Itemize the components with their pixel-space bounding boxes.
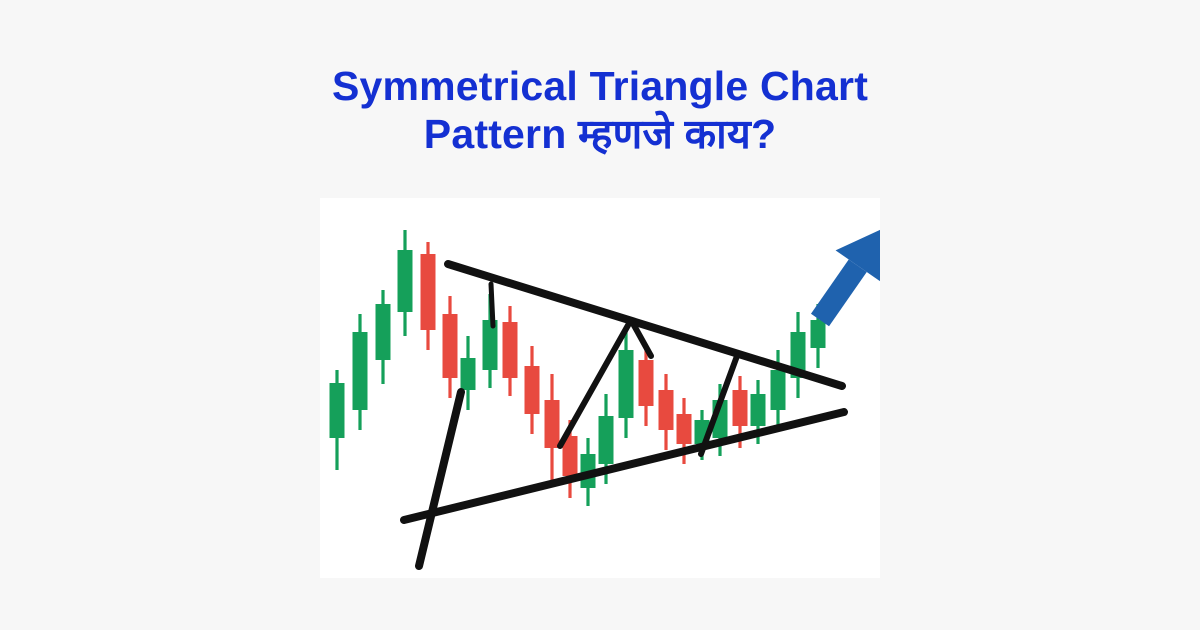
title-line-1: Symmetrical Triangle Chart xyxy=(0,62,1200,110)
candlestick-chart xyxy=(320,198,880,578)
title-line-2: Pattern म्हणजे काय? xyxy=(0,110,1200,158)
page-title: Symmetrical Triangle Chart Pattern म्हणज… xyxy=(0,62,1200,159)
poster-canvas: Symmetrical Triangle Chart Pattern म्हणज… xyxy=(0,0,1200,630)
chart-panel xyxy=(320,198,880,578)
trendline-resistance-touch-tick xyxy=(491,284,493,326)
